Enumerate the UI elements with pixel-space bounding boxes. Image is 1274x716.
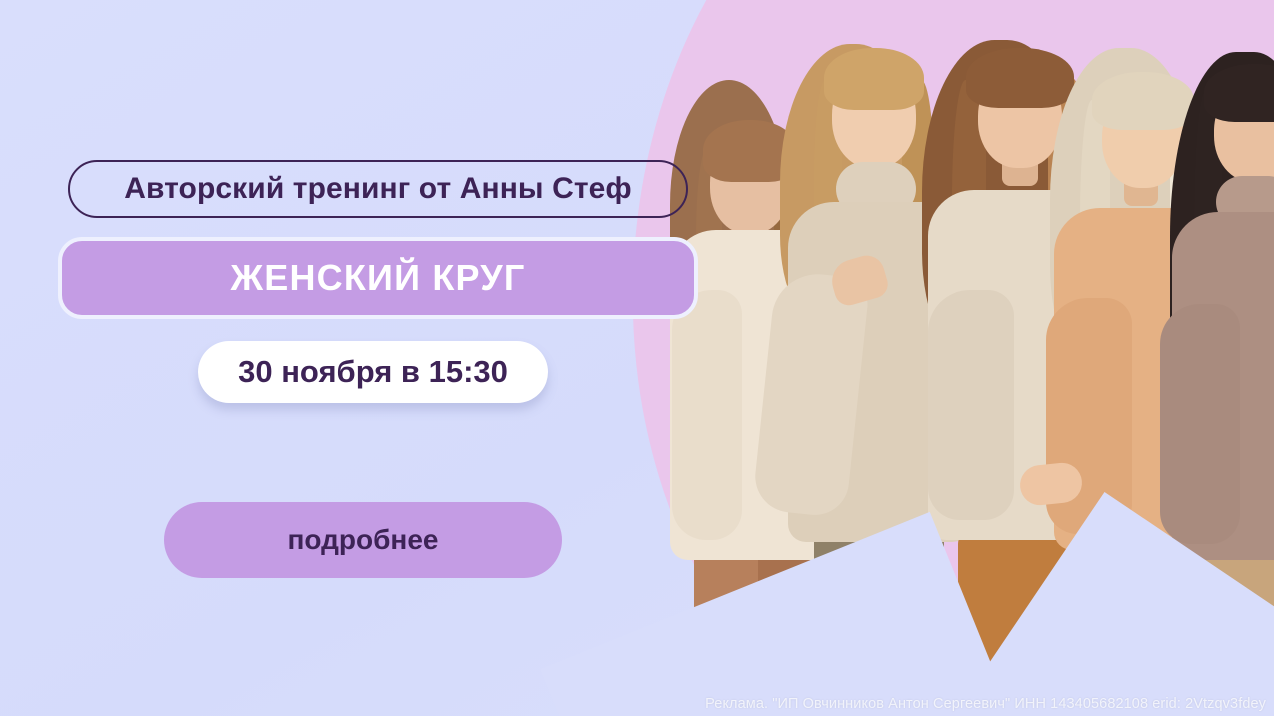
title-block: ЖЕНСКИЙ КРУГ [58,237,698,319]
arm [928,290,1014,520]
promo-banner: Авторский тренинг от Анны Стеф ЖЕНСКИЙ К… [0,0,1274,716]
details-button[interactable]: подробнее [164,502,562,578]
date-badge: 30 ноября в 15:30 [198,341,548,403]
eyebrow-text: Авторский тренинг от Анны Стеф [124,172,632,206]
page-title: ЖЕНСКИЙ КРУГ [231,257,526,299]
eyebrow-pill: Авторский тренинг от Анны Стеф [68,160,688,218]
legal-disclaimer: Реклама. "ИП Овчинников Антон Сергеевич"… [0,696,1274,712]
hair-top [824,48,924,110]
date-text: 30 ноября в 15:30 [238,354,508,390]
arm [1160,304,1240,544]
copy-stack: Авторский тренинг от Анны Стеф ЖЕНСКИЙ К… [0,0,700,716]
